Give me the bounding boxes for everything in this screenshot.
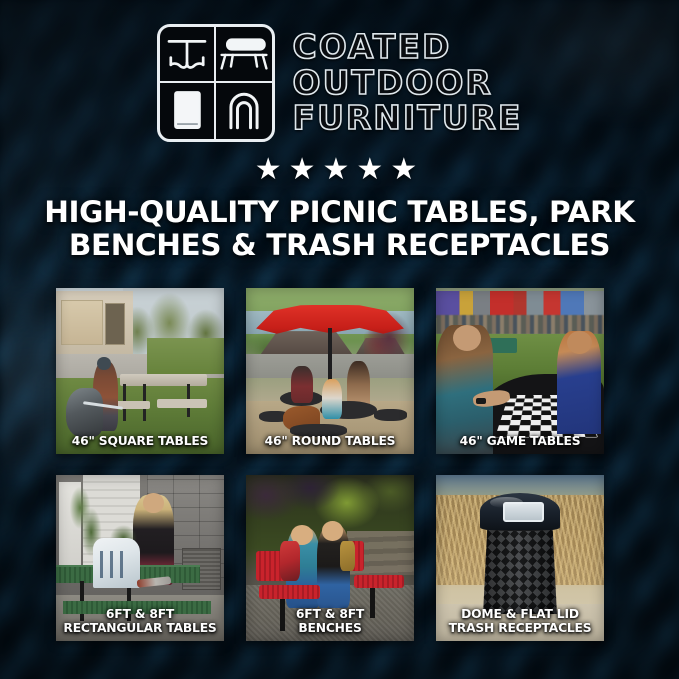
product-grid: 46" SQUARE TABLES 46" ROUND TABLES bbox=[56, 288, 624, 641]
product-caption: 46" SQUARE TABLES bbox=[56, 435, 224, 448]
product-photo-round-tables bbox=[246, 288, 414, 454]
brand-word-furniture: FURNITURE bbox=[293, 101, 523, 136]
product-tile-benches[interactable]: 6FT & 8FT BENCHES bbox=[246, 475, 414, 641]
trash-receptacle-icon bbox=[160, 83, 216, 139]
product-caption-line-1: 46" SQUARE TABLES bbox=[59, 435, 221, 448]
brand-logo: COATED OUTDOOR FURNITURE bbox=[0, 24, 679, 142]
product-caption: 6FT & 8FT BENCHES bbox=[246, 608, 414, 635]
product-caption: DOME & FLAT LID TRASH RECEPTACLES bbox=[436, 608, 604, 635]
product-photo-game-tables bbox=[436, 288, 604, 454]
brand-wordmark: COATED OUTDOOR FURNITURE bbox=[293, 30, 523, 137]
product-caption-line-2: TRASH RECEPTACLES bbox=[439, 622, 601, 635]
product-tile-round-tables[interactable]: 46" ROUND TABLES bbox=[246, 288, 414, 454]
park-bench-icon bbox=[216, 27, 272, 83]
product-caption-line-1: 46" ROUND TABLES bbox=[249, 435, 411, 448]
product-tile-square-tables[interactable]: 46" SQUARE TABLES bbox=[56, 288, 224, 454]
headline-line-1: HIGH-QUALITY PICNIC TABLES, PARK bbox=[20, 196, 660, 229]
product-caption-line-1: DOME & FLAT LID bbox=[439, 608, 601, 621]
product-caption-line-2: RECTANGULAR TABLES bbox=[59, 622, 221, 635]
product-caption-line-1: 46" GAME TABLES bbox=[439, 435, 601, 448]
page-title: HIGH-QUALITY PICNIC TABLES, PARK BENCHES… bbox=[20, 196, 660, 262]
brand-word-coated: COATED bbox=[293, 30, 523, 65]
product-caption-line-2: BENCHES bbox=[249, 622, 411, 635]
picnic-table-icon bbox=[160, 27, 216, 83]
product-photo-square-tables bbox=[56, 288, 224, 454]
product-tile-trash-receptacles[interactable]: DOME & FLAT LID TRASH RECEPTACLES bbox=[436, 475, 604, 641]
product-tile-rectangular-tables[interactable]: 6FT & 8FT RECTANGULAR TABLES bbox=[56, 475, 224, 641]
headline-line-2: BENCHES & TRASH RECEPTACLES bbox=[20, 229, 660, 262]
product-caption: 46" GAME TABLES bbox=[436, 435, 604, 448]
infographic-banner: COATED OUTDOOR FURNITURE ★★★★★ HIGH-QUAL… bbox=[0, 0, 679, 679]
header: COATED OUTDOOR FURNITURE ★★★★★ HIGH-QUAL… bbox=[0, 24, 679, 262]
product-caption: 6FT & 8FT RECTANGULAR TABLES bbox=[56, 608, 224, 635]
product-tile-game-tables[interactable]: 46" GAME TABLES bbox=[436, 288, 604, 454]
product-caption-line-1: 6FT & 8FT bbox=[59, 608, 221, 621]
star-rating: ★★★★★ bbox=[0, 155, 679, 185]
product-caption: 46" ROUND TABLES bbox=[246, 435, 414, 448]
product-caption-line-1: 6FT & 8FT bbox=[249, 608, 411, 621]
four-quadrant-furniture-icon bbox=[157, 24, 275, 142]
bike-rack-icon bbox=[216, 83, 272, 139]
brand-word-outdoor: OUTDOOR bbox=[293, 66, 523, 101]
